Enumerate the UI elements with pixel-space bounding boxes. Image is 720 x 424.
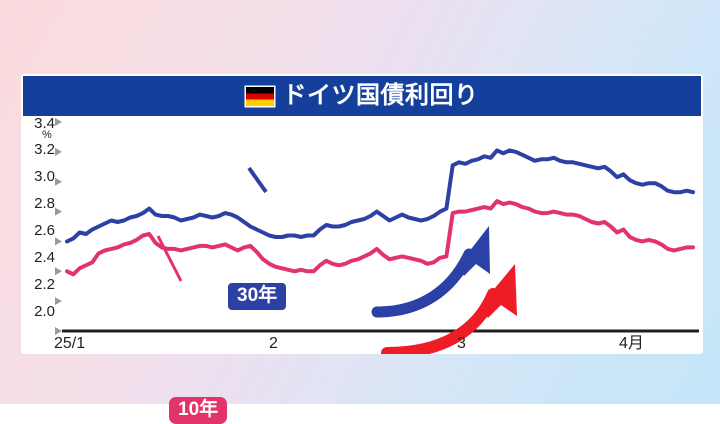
y-tick-label: 2.2 (21, 277, 55, 292)
x-tick-label: 4月 (619, 336, 644, 352)
series-callout-10y: 10年 (169, 397, 227, 424)
y-tick-label: 2.4 (21, 250, 55, 265)
series-callout-30y: 30年 (228, 283, 286, 310)
y-tick-label: 2.6 (21, 223, 55, 238)
y-axis-unit-label: % (42, 130, 52, 141)
page-title: ドイツ国債利回り (283, 84, 479, 108)
infographic-root: ドイツ国債利回り (0, 0, 720, 404)
callout-leader-10y (158, 236, 181, 281)
y-tick-label: 2.0 (21, 304, 55, 319)
german-flag-icon (246, 87, 274, 106)
y-tick-label: 3.0 (21, 169, 55, 184)
chart-plot-area: 3.4 % 3.2 3.0 2.8 2.6 2.4 2.2 2.0 25/1 2… (21, 116, 703, 354)
y-axis-tick-markers (55, 118, 62, 335)
y-tick-label: 2.8 (21, 196, 55, 211)
x-tick-label: 3 (457, 336, 466, 352)
x-tick-label: 2 (269, 336, 278, 352)
series-line-30y (67, 150, 693, 241)
callout-leader-30y (249, 168, 266, 192)
chart-header-bar: ドイツ国債利回り (23, 76, 701, 116)
up-arrow-30y-icon (377, 226, 490, 312)
x-tick-label: 25/1 (54, 336, 85, 352)
y-tick-label: 3.2 (21, 142, 55, 157)
chart-svg (21, 116, 703, 354)
